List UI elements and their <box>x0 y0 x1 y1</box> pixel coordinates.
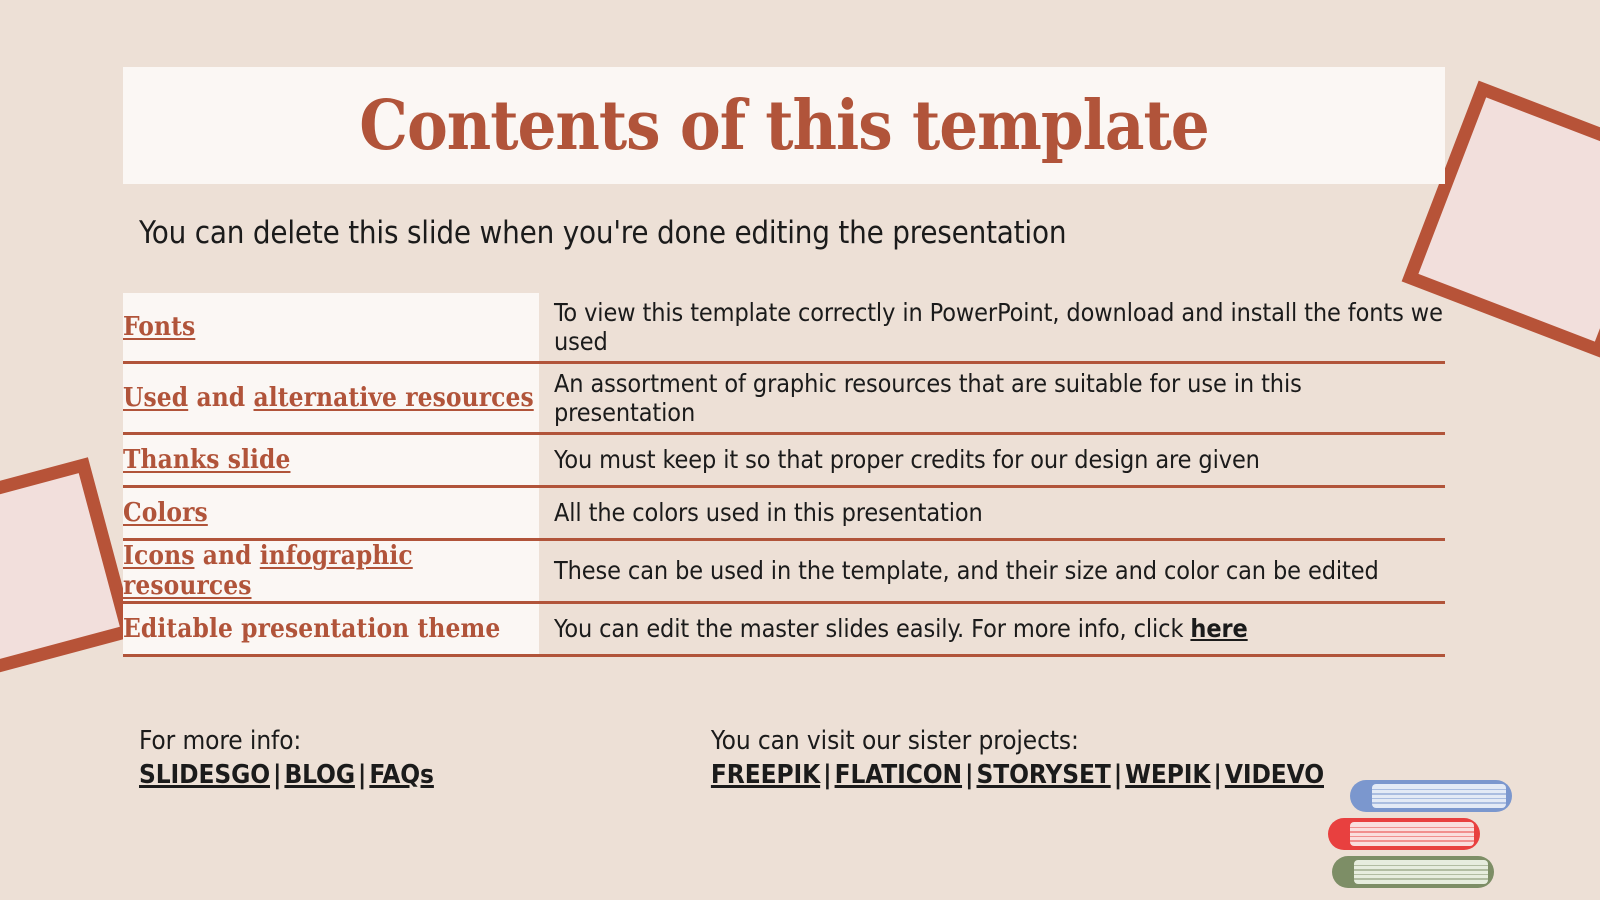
link-separator: | <box>1111 760 1125 790</box>
row-description: You must keep it so that proper credits … <box>554 445 1260 474</box>
row-label-link[interactable]: Thanks slide <box>123 445 290 475</box>
sister-projects-label: You can visit our sister projects: <box>711 726 1324 756</box>
table-row: Used and alternative resourcesAn assortm… <box>123 363 1445 434</box>
row-label: Colors <box>123 498 208 528</box>
sister-link-videvo[interactable]: VIDEVO <box>1225 760 1324 790</box>
row-label-link[interactable]: Colors <box>123 498 208 528</box>
row-description: These can be used in the template, and t… <box>554 556 1379 585</box>
book-blue-icon <box>1350 780 1512 812</box>
footer-link-blog[interactable]: BLOG <box>284 760 354 790</box>
row-description: To view this template correctly in Power… <box>554 298 1443 356</box>
footer-more-info: For more info: SLIDESGO|BLOG|FAQs <box>139 726 434 790</box>
row-description-cell: These can be used in the template, and t… <box>554 540 1445 603</box>
row-gap <box>539 293 554 363</box>
row-gap <box>539 434 554 487</box>
book-red-icon <box>1328 818 1480 850</box>
row-label-link[interactable]: Fonts <box>123 312 195 342</box>
more-info-links: SLIDESGO|BLOG|FAQs <box>139 760 434 790</box>
row-label-text: and <box>188 383 253 413</box>
row-description-link[interactable]: here <box>1190 614 1247 643</box>
row-gap <box>539 540 554 603</box>
row-label: Used and alternative resources <box>123 383 534 413</box>
more-info-label: For more info: <box>139 726 434 756</box>
row-label-cell: Icons and infographic resources <box>123 540 539 603</box>
contents-table: FontsTo view this template correctly in … <box>123 293 1445 657</box>
slide-canvas: Contents of this template You can delete… <box>0 0 1600 900</box>
row-label-cell: Fonts <box>123 293 539 363</box>
table-row: Icons and infographic resourcesThese can… <box>123 540 1445 603</box>
row-gap <box>539 603 554 656</box>
table-row: Thanks slideYou must keep it so that pro… <box>123 434 1445 487</box>
sister-link-flaticon[interactable]: FLATICON <box>835 760 962 790</box>
link-separator: | <box>355 760 369 790</box>
row-description-cell: All the colors used in this presentation <box>554 487 1445 540</box>
link-separator: | <box>962 760 976 790</box>
book-green-icon <box>1332 856 1494 888</box>
link-separator: | <box>270 760 284 790</box>
row-label-link[interactable]: Icons <box>123 541 194 571</box>
row-label-cell: Thanks slide <box>123 434 539 487</box>
row-description-cell: You must keep it so that proper credits … <box>554 434 1445 487</box>
table-row: FontsTo view this template correctly in … <box>123 293 1445 363</box>
row-label-cell: Colors <box>123 487 539 540</box>
book-stack-illustration <box>1292 772 1512 892</box>
row-description-cell: To view this template correctly in Power… <box>554 293 1445 363</box>
table-row: Editable presentation themeYou can edit … <box>123 603 1445 656</box>
row-label-link[interactable]: Used <box>123 383 188 413</box>
footer: For more info: SLIDESGO|BLOG|FAQs You ca… <box>139 726 1324 790</box>
row-label-cell: Editable presentation theme <box>123 603 539 656</box>
sister-project-links: FREEPIK|FLATICON|STORYSET|WEPIK|VIDEVO <box>711 760 1324 790</box>
row-label-link[interactable]: alternative resources <box>254 383 534 413</box>
row-description-cell: An assortment of graphic resources that … <box>554 363 1445 434</box>
slide-subtitle: You can delete this slide when you're do… <box>139 215 1066 251</box>
row-label: Thanks slide <box>123 445 290 475</box>
row-description: You can edit the master slides easily. F… <box>554 614 1190 643</box>
link-separator: | <box>1210 760 1224 790</box>
footer-link-slidesgo[interactable]: SLIDESGO <box>139 760 270 790</box>
link-separator: | <box>820 760 834 790</box>
row-gap <box>539 487 554 540</box>
table-row: ColorsAll the colors used in this presen… <box>123 487 1445 540</box>
footer-link-faqs[interactable]: FAQs <box>369 760 434 790</box>
sister-link-wepik[interactable]: WEPIK <box>1125 760 1210 790</box>
sister-link-freepik[interactable]: FREEPIK <box>711 760 820 790</box>
sister-link-storyset[interactable]: STORYSET <box>976 760 1110 790</box>
row-label-text: and <box>194 541 259 571</box>
row-description: An assortment of graphic resources that … <box>554 369 1302 427</box>
row-description-cell: You can edit the master slides easily. F… <box>554 603 1445 656</box>
rotated-frame-left-icon <box>0 457 136 684</box>
row-label: Fonts <box>123 312 195 342</box>
row-gap <box>539 363 554 434</box>
page-title: Contents of this template <box>359 92 1208 160</box>
row-label: Editable presentation theme <box>123 614 500 644</box>
row-label: Icons and infographic resources <box>123 541 413 601</box>
row-label-cell: Used and alternative resources <box>123 363 539 434</box>
row-description: All the colors used in this presentation <box>554 498 983 527</box>
title-band: Contents of this template <box>123 67 1445 184</box>
row-label-text: Editable presentation theme <box>123 614 500 644</box>
footer-sister-projects: You can visit our sister projects: FREEP… <box>711 726 1324 790</box>
